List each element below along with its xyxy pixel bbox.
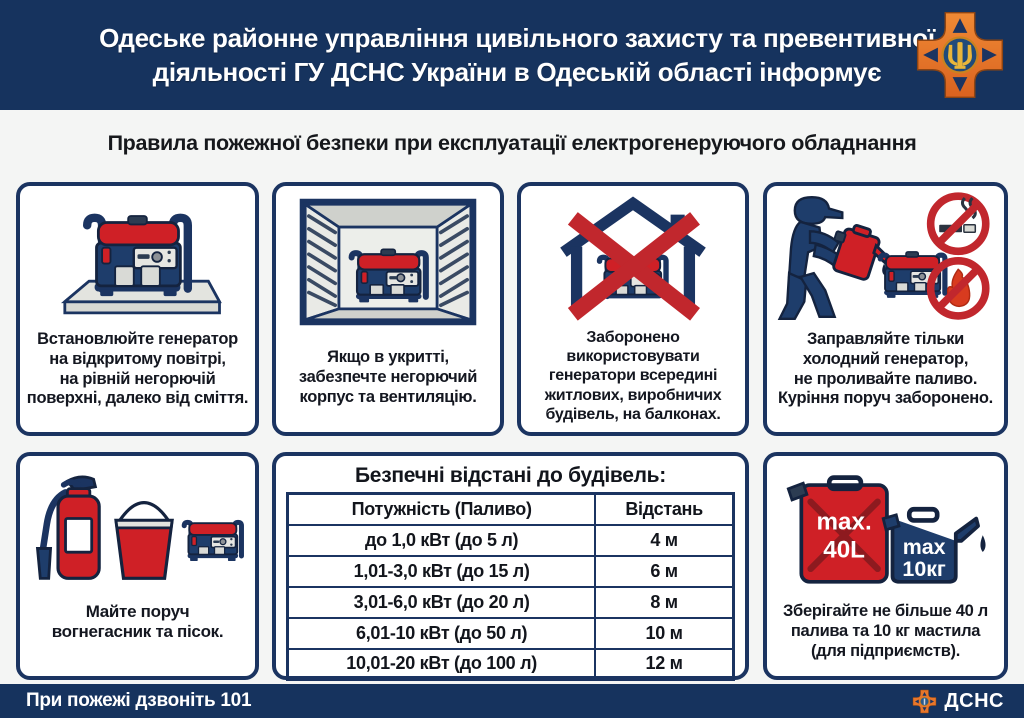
generator-in-ventilated-enclosure-icon (276, 186, 500, 338)
table-row: 6,01-10 кВт (до 50 л) 10 м (288, 618, 734, 649)
emergency-number-text: При пожежі дзвоніть 101 (26, 690, 251, 712)
cell-power: 6,01-10 кВт (до 50 л) (288, 618, 596, 649)
extinguisher-bucket-generator-icon (20, 456, 255, 596)
cell-distance: 10 м (595, 618, 733, 649)
generator-on-platform-icon (20, 186, 255, 328)
panel-no-indoor-use: Заборонено використовувати генератори вс… (517, 182, 749, 436)
dsns-cross-emblem-icon (914, 8, 1006, 102)
no-generator-indoors-icon (521, 186, 745, 326)
jerrycan-and-oil-can-icon: max. 40L max 10кг (767, 456, 1004, 596)
dsns-cross-emblem-icon (912, 689, 937, 714)
subtitle-bar: Правила пожежної безпеки при експлуатаці… (0, 112, 1024, 174)
panel-outdoor-caption: Встановлюйте генератор на відкритому пов… (20, 328, 255, 415)
panel-extinguisher-caption: Майте поруч вогнегасник та пісок. (20, 596, 255, 649)
panel-safe-distances: Безпечні відстані до будівель: Потужніст… (272, 452, 749, 680)
panel-storage-caption: Зберігайте не більше 40 л палива та 10 к… (767, 596, 1004, 667)
table-title: Безпечні відстані до будівель: (355, 462, 666, 492)
cell-distance: 12 м (595, 649, 733, 680)
jerrycan-max-label-line1: max. (816, 509, 871, 536)
subtitle-text: Правила пожежної безпеки при експлуатаці… (108, 131, 917, 156)
table-row: 1,01-3,0 кВт (до 15 л) 6 м (288, 556, 734, 587)
oilcan-max-label-line2: 10кг (902, 557, 945, 581)
cell-power: 3,01-6,0 кВт (до 20 л) (288, 587, 596, 618)
safe-distances-table: Потужність (Паливо) Відстань до 1,0 кВт … (286, 492, 735, 681)
table-row: до 1,0 кВт (до 5 л) 4 м (288, 525, 734, 556)
cell-distance: 4 м (595, 525, 733, 556)
panel-fuel-storage-limits: max. 40L max 10кг Зберігайте не більше 4… (763, 452, 1008, 680)
table-header-power: Потужність (Паливо) (288, 494, 596, 525)
page-title: Одеське районне управління цивільного за… (77, 21, 957, 90)
footer-brand-text: ДСНС (944, 690, 1004, 713)
panel-outdoor-placement: Встановлюйте генератор на відкритому пов… (16, 182, 259, 436)
panel-no-indoor-caption: Заборонено використовувати генератори вс… (521, 326, 745, 430)
table-row: 3,01-6,0 кВт (до 20 л) 8 м (288, 587, 734, 618)
cell-distance: 8 м (595, 587, 733, 618)
cell-distance: 6 м (595, 556, 733, 587)
jerrycan-max-label-line2: 40L (823, 537, 865, 564)
table-header-distance: Відстань (595, 494, 733, 525)
panel-shelter-ventilation: Якщо в укритті, забезпечте негорючий кор… (272, 182, 504, 436)
panel-refuelling-rules: Заправляйте тільки холодний генератор, н… (763, 182, 1008, 436)
panel-extinguisher-sand: Майте поруч вогнегасник та пісок. (16, 452, 259, 680)
footer-brand: ДСНС (912, 684, 1004, 718)
cell-power: до 1,0 кВт (до 5 л) (288, 525, 596, 556)
refuel-cold-generator-icon (767, 186, 1004, 328)
cell-power: 10,01-20 кВт (до 100 л) (288, 649, 596, 680)
no-smoking-icon (930, 196, 985, 251)
table-row: 10,01-20 кВт (до 100 л) 12 м (288, 649, 734, 680)
panel-shelter-caption: Якщо в укритті, забезпечте негорючий кор… (276, 338, 500, 413)
footer-bar: При пожежі дзвоніть 101 ДСНС (0, 684, 1024, 718)
infographic-page: Одеське районне управління цивільного за… (0, 0, 1024, 718)
header-bar: Одеське районне управління цивільного за… (0, 0, 1024, 110)
table-header-row: Потужність (Паливо) Відстань (288, 494, 734, 525)
oilcan-max-label-line1: max (902, 535, 945, 559)
cell-power: 1,01-3,0 кВт (до 15 л) (288, 556, 596, 587)
panel-refuel-caption: Заправляйте тільки холодний генератор, н… (767, 328, 1004, 415)
